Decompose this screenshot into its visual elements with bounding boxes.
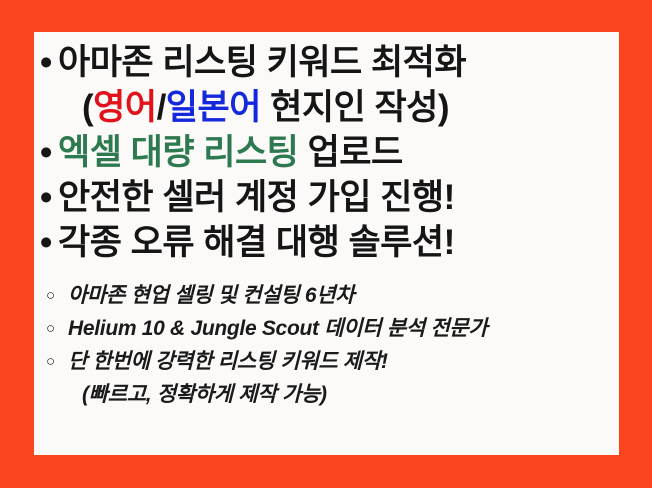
bullet-circle-icon: ○ [46, 312, 55, 345]
headline-item-3-label: 안전한 셀러 계정 가입 진행! [58, 178, 455, 217]
headline-item-1-continuation: (영어/일본어 현지인 작성) [34, 85, 619, 130]
credential-item-2-label: Helium 10 & Jungle Scout 데이터 분석 전문가 [68, 317, 487, 340]
bullet-circle-icon: ○ [46, 345, 55, 378]
language-english-label: 영어 [93, 88, 156, 127]
credential-item-2: ○ Helium 10 & Jungle Scout 데이터 분석 전문가 [34, 312, 619, 345]
headline-item-1-label: 아마존 리스팅 키워드 최적화 [58, 43, 466, 82]
content-panel: • 아마존 리스팅 키워드 최적화 (영어/일본어 현지인 작성) • 엑셀 대… [34, 32, 619, 455]
promo-card: • 아마존 리스팅 키워드 최적화 (영어/일본어 현지인 작성) • 엑셀 대… [0, 0, 652, 488]
credentials-list: ○ 아마존 현업 셀링 및 컨설팅 6년차 ○ Helium 10 & Jung… [34, 279, 619, 411]
headline-item-2: • 엑셀 대량 리스팅 업로드 [34, 130, 619, 175]
bullet-dot-icon: • [40, 220, 52, 265]
bullet-dot-icon: • [40, 175, 52, 220]
credential-item-3-label: 단 한번에 강력한 리스팅 키워드 제작! [68, 350, 388, 373]
bullet-circle-icon: ○ [46, 279, 55, 312]
bullet-dot-icon: • [40, 130, 52, 175]
bullet-dot-icon: • [40, 40, 52, 85]
credential-item-1: ○ 아마존 현업 셀링 및 컨설팅 6년차 [34, 279, 619, 312]
headline-item-1: • 아마존 리스팅 키워드 최적화 [34, 40, 619, 85]
headline-item-4-label: 각종 오류 해결 대행 솔루션! [58, 223, 455, 262]
credential-item-3-continuation-label: (빠르고, 정확하게 제작 가능) [82, 383, 327, 406]
native-writer-label: 현지인 작성) [261, 88, 449, 127]
headline-item-4: • 각종 오류 해결 대행 솔루션! [34, 220, 619, 265]
credential-item-3-continuation: (빠르고, 정확하게 제작 가능) [34, 378, 619, 411]
credential-item-3: ○ 단 한번에 강력한 리스팅 키워드 제작! [34, 345, 619, 378]
language-separator: / [157, 88, 166, 127]
upload-label: 업로드 [298, 133, 402, 172]
excel-bulk-listing-label: 엑셀 대량 리스팅 [58, 133, 298, 172]
paren-open: ( [82, 88, 93, 127]
language-japanese-label: 일본어 [166, 88, 261, 127]
headline-item-3: • 안전한 셀러 계정 가입 진행! [34, 175, 619, 220]
credential-item-1-label: 아마존 현업 셀링 및 컨설팅 6년차 [68, 284, 354, 307]
headline-list: • 아마존 리스팅 키워드 최적화 (영어/일본어 현지인 작성) • 엑셀 대… [34, 40, 619, 265]
